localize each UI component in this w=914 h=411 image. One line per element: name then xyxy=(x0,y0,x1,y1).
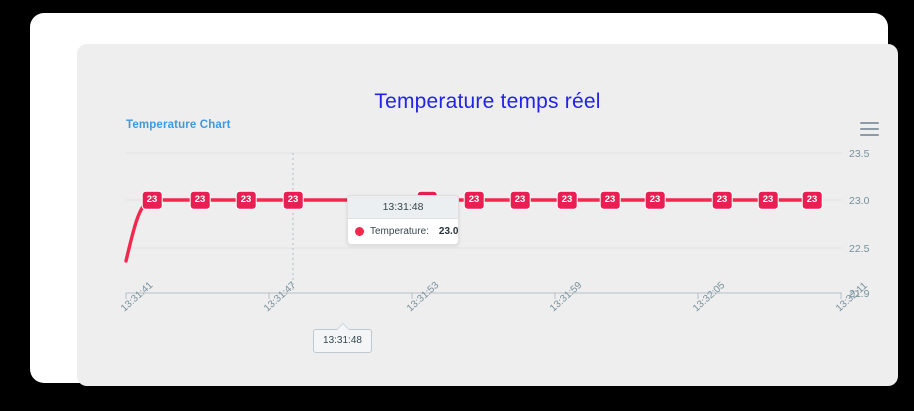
y-tick-label: 23.5 xyxy=(849,148,883,160)
data-point-label[interactable]: 23 xyxy=(557,191,578,210)
tooltip-series-row: Temperature: 23.0 xyxy=(348,219,458,244)
x-tick-label: 13:31:59 xyxy=(548,280,584,314)
x-tick-label: 13:31:47 xyxy=(262,280,298,314)
tooltip-series-value: 23.0 xyxy=(439,226,458,237)
hamburger-menu-icon[interactable] xyxy=(860,122,879,136)
data-point-label[interactable]: 23 xyxy=(190,191,211,210)
series-marker-icon xyxy=(355,227,364,236)
data-point-label[interactable]: 23 xyxy=(645,191,666,210)
page-surface: Temperature temps réel Temperature Chart xyxy=(30,13,888,383)
x-axis-ticks xyxy=(126,293,841,299)
temperature-chart-card: Temperature temps réel Temperature Chart xyxy=(77,44,898,386)
x-tick-label: 13:31:53 xyxy=(405,280,441,314)
data-point-label[interactable]: 23 xyxy=(464,191,485,210)
data-point-label[interactable]: 23 xyxy=(758,191,779,210)
data-point-label[interactable]: 23 xyxy=(802,191,823,210)
hamburger-line xyxy=(860,122,879,124)
data-point-label[interactable]: 23 xyxy=(600,191,621,210)
tooltip-time: 13:31:48 xyxy=(348,196,458,219)
x-tick-label: 13:32:05 xyxy=(691,280,727,314)
y-tick-label: 22.5 xyxy=(849,243,883,255)
xaxis-crosshair-tooltip: 13:31:48 xyxy=(313,329,372,353)
data-point-label[interactable]: 23 xyxy=(712,191,733,210)
tooltip-series-label: Temperature: xyxy=(370,226,429,237)
hamburger-line xyxy=(860,134,879,136)
chart-subtitle: Temperature Chart xyxy=(126,119,231,131)
data-point-label[interactable]: 23 xyxy=(510,191,531,210)
data-point-label[interactable]: 23 xyxy=(283,191,304,210)
page-title: Temperature temps réel xyxy=(77,90,898,114)
chart-tooltip: 13:31:48 Temperature: 23.0 xyxy=(347,195,459,245)
data-point-label[interactable]: 23 xyxy=(142,191,163,210)
data-point-label[interactable]: 23 xyxy=(236,191,257,210)
y-tick-label: 23.0 xyxy=(849,195,883,207)
x-tick-label: 13:31:41 xyxy=(119,280,155,314)
screenshot-root: Temperature temps réel Temperature Chart xyxy=(0,0,914,411)
hamburger-line xyxy=(860,128,879,130)
